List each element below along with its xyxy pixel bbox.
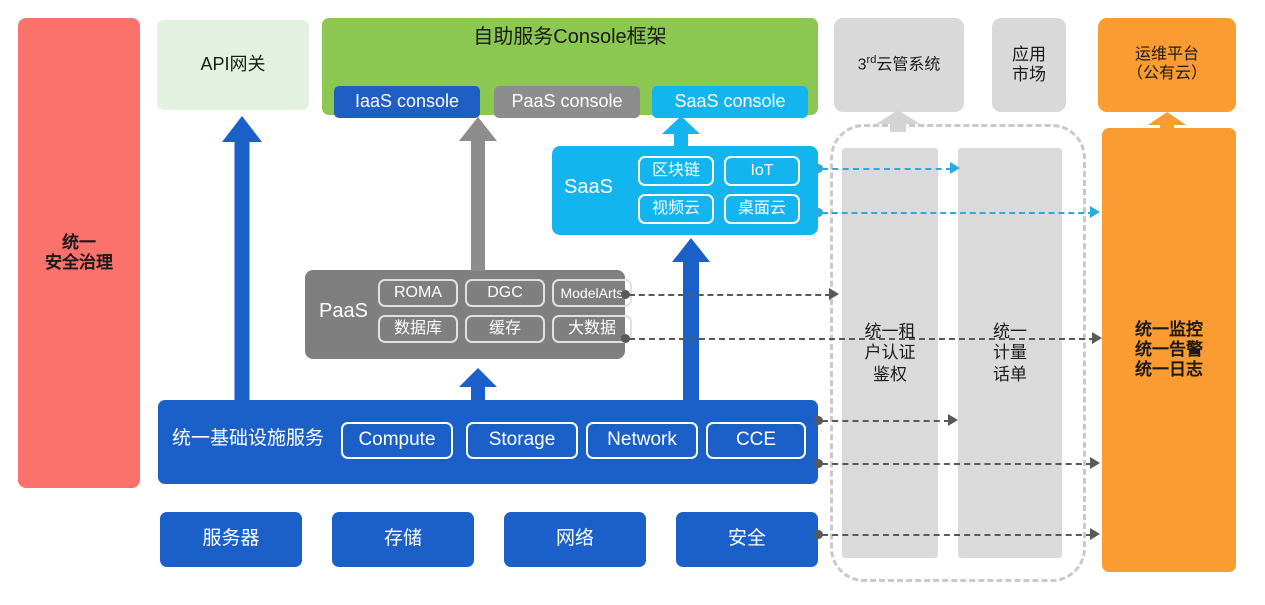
saas-item-desktop-cloud[interactable]: 桌面云 bbox=[724, 194, 800, 224]
saas-panel: SaaS 区块链 IoT 视频云 桌面云 bbox=[552, 146, 818, 235]
arrow-saas-to-console bbox=[662, 116, 700, 148]
saas-console-chip[interactable]: SaaS console bbox=[652, 86, 808, 118]
arrow-ops-panel-to-ops-platform bbox=[1148, 112, 1186, 132]
paas-auth-connector-head bbox=[829, 288, 839, 300]
saas-item-video-cloud[interactable]: 视频云 bbox=[638, 194, 714, 224]
paas-console-chip[interactable]: PaaS console bbox=[494, 86, 640, 118]
infra-item-cce[interactable]: CCE bbox=[706, 422, 806, 459]
app-market-box: 应用 市场 bbox=[992, 18, 1066, 112]
paas-ops-connector-line bbox=[629, 338, 1095, 340]
security-governance-panel: 统一 安全治理 bbox=[18, 18, 140, 488]
iaas-console-chip[interactable]: IaaS console bbox=[334, 86, 480, 118]
paas-auth-connector-line bbox=[629, 294, 831, 296]
infra-auth-connector-line bbox=[822, 420, 950, 422]
infrastructure-panel: 统一基础设施服务 Compute Storage Network CCE bbox=[158, 400, 818, 484]
resource-box-security[interactable]: 安全 bbox=[676, 512, 818, 567]
paas-item-modelarts[interactable]: ModelArts bbox=[552, 279, 632, 307]
third-party-label: 3rd云管系统 bbox=[858, 54, 941, 75]
saas-item-blockchain[interactable]: 区块链 bbox=[638, 156, 714, 186]
paas-item-cache[interactable]: 缓存 bbox=[465, 315, 545, 343]
paas-item-roma[interactable]: ROMA bbox=[378, 279, 458, 307]
ops-panel: 统一监控 统一告警 统一日志 bbox=[1102, 128, 1236, 572]
arrow-infra-to-api-gateway bbox=[222, 116, 262, 404]
infra-item-compute[interactable]: Compute bbox=[341, 422, 453, 459]
saas-label: SaaS bbox=[564, 176, 613, 200]
paas-item-database[interactable]: 数据库 bbox=[378, 315, 458, 343]
resource-box-network[interactable]: 网络 bbox=[504, 512, 646, 567]
saas-ops-connector-line bbox=[822, 212, 1094, 214]
ops-platform-box: 运维平台 （公有云） bbox=[1098, 18, 1236, 112]
infra-item-storage[interactable]: Storage bbox=[466, 422, 578, 459]
paas-item-dgc[interactable]: DGC bbox=[465, 279, 545, 307]
infra-ops-connector-line bbox=[822, 463, 1092, 465]
unified-tenant-auth-column: 统一租 户认证 鉴权 bbox=[842, 148, 938, 558]
infrastructure-label: 统一基础设施服务 bbox=[172, 428, 324, 450]
infra-auth-connector-head bbox=[948, 414, 958, 426]
console-frame-title: 自助服务Console框架 bbox=[322, 26, 818, 50]
arrow-infra-to-paas bbox=[459, 368, 497, 402]
saas-ops-connector-head bbox=[1090, 206, 1100, 218]
saas-auth-connector-line bbox=[822, 168, 952, 170]
unified-metering-billing-column: 统一 计量 话单 bbox=[958, 148, 1062, 558]
api-gateway-box: API网关 bbox=[157, 20, 309, 110]
saas-auth-connector-head bbox=[950, 162, 960, 174]
infra-ops-connector-head bbox=[1090, 457, 1100, 469]
paas-panel: PaaS ROMA DGC ModelArts 数据库 缓存 大数据 bbox=[305, 270, 625, 359]
paas-item-bigdata[interactable]: 大数据 bbox=[552, 315, 632, 343]
infra-item-network[interactable]: Network bbox=[586, 422, 698, 459]
saas-item-iot[interactable]: IoT bbox=[724, 156, 800, 186]
resource-box-server[interactable]: 服务器 bbox=[160, 512, 302, 567]
arrow-shared-to-third-party bbox=[876, 110, 920, 132]
third-party-cloud-mgmt-box: 3rd云管系统 bbox=[834, 18, 964, 112]
paas-ops-connector-head bbox=[1092, 332, 1102, 344]
resource-ops-connector-head bbox=[1090, 528, 1100, 540]
console-frame-panel: 自助服务Console框架 IaaS console PaaS console … bbox=[322, 18, 818, 115]
resource-ops-connector-line bbox=[822, 534, 1092, 536]
arrow-paas-to-console bbox=[459, 117, 497, 271]
arrow-infra-to-saas bbox=[672, 238, 710, 404]
paas-label: PaaS bbox=[319, 300, 368, 324]
resource-box-storage[interactable]: 存储 bbox=[332, 512, 474, 567]
third-party-superscript: rd bbox=[867, 54, 877, 66]
architecture-diagram: 统一 安全治理 API网关 自助服务Console框架 IaaS console… bbox=[0, 0, 1265, 605]
